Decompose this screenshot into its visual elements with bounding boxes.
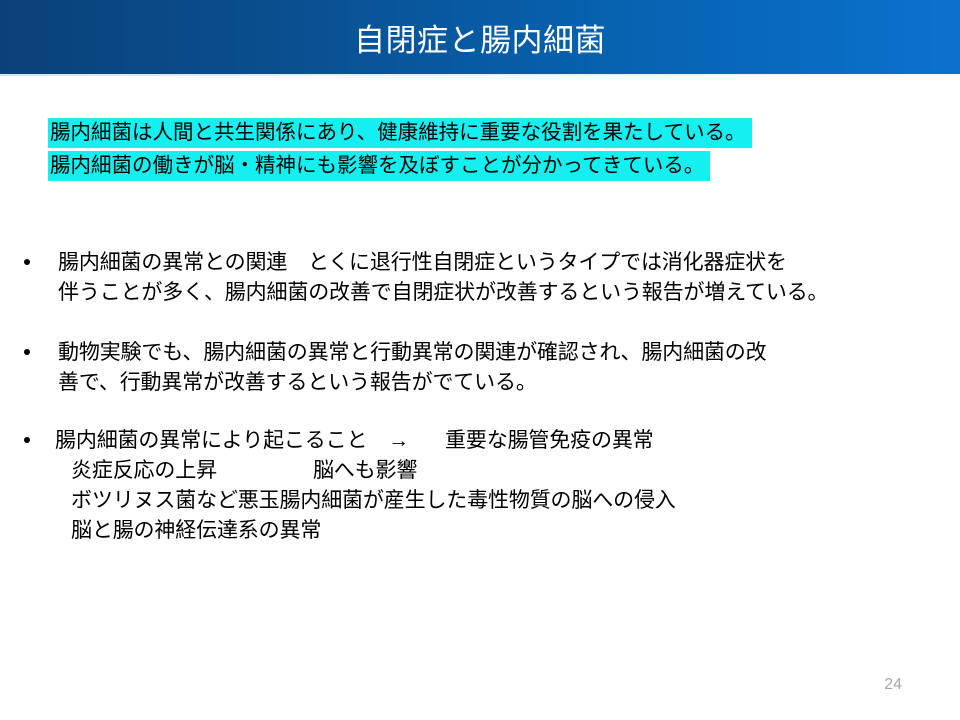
bullet-2-lines: 動物実験でも、腸内細菌の異常と行動異常の関連が確認され、腸内細菌の改 善で、行動… (0, 338, 960, 398)
bullet-3-line-3: ボツリヌス菌など悪玉腸内細菌が産生した毒性物質の脳への侵入 (55, 486, 958, 516)
bullet-3-brain-text: 脳へも影響 (313, 459, 417, 482)
bullet-3-cause-text: 腸内細菌の異常により起こること → (55, 429, 409, 452)
bullet-3-lines: 腸内細菌の異常により起こること →重要な腸管免疫の異常 炎症反応の上昇脳へも影響… (0, 426, 960, 546)
bullet-item-2: 動物実験でも、腸内細菌の異常と行動異常の関連が確認され、腸内細菌の改 善で、行動… (0, 338, 960, 398)
lead-line-1: 腸内細菌は人間と共生関係にあり、健康維持に重要な役割を果たしている。 (48, 118, 928, 148)
bullet-2-line-1: 動物実験でも、腸内細菌の異常と行動異常の関連が確認され、腸内細菌の改 (58, 338, 958, 368)
bullet-3-line-2: 炎症反応の上昇脳へも影響 (55, 456, 958, 486)
page-number: 24 (884, 676, 902, 694)
bullet-dot-icon (24, 259, 30, 265)
bullet-item-1: 腸内細菌の異常との関連 とくに退行性自閉症というタイプでは消化器症状を 伴うこと… (0, 248, 960, 308)
bullet-3-line-4: 脳と腸の神経伝達系の異常 (55, 516, 958, 546)
bullet-1-line-1: 腸内細菌の異常との関連 とくに退行性自閉症というタイプでは消化器症状を (58, 248, 958, 278)
bullet-1-lines: 腸内細菌の異常との関連 とくに退行性自閉症というタイプでは消化器症状を 伴うこと… (0, 248, 960, 308)
bullet-3-inflammation-text: 炎症反応の上昇 (71, 459, 217, 482)
lead-highlight-block: 腸内細菌は人間と共生関係にあり、健康維持に重要な役割を果たしている。 腸内細菌の… (48, 118, 928, 184)
bullet-item-3: 腸内細菌の異常により起こること →重要な腸管免疫の異常 炎症反応の上昇脳へも影響… (0, 426, 960, 546)
bullet-dot-icon (24, 437, 30, 443)
lead-line-1-text: 腸内細菌は人間と共生関係にあり、健康維持に重要な役割を果たしている。 (48, 118, 752, 148)
bullet-dot-icon (24, 349, 30, 355)
body-content: 腸内細菌の異常との関連 とくに退行性自閉症というタイプでは消化器症状を 伴うこと… (0, 248, 960, 572)
bullet-3-effect-text: 重要な腸管免疫の異常 (445, 429, 654, 452)
page-title: 自閉症と腸内細菌 (0, 0, 960, 74)
bullet-3-line-1: 腸内細菌の異常により起こること →重要な腸管免疫の異常 (55, 426, 958, 456)
lead-line-2-text: 腸内細菌の働きが脳・精神にも影響を及ぼすことが分かってきている。 (48, 151, 710, 181)
bullet-2-line-2: 善で、行動異常が改善するという報告がでている。 (58, 368, 958, 398)
bullet-1-line-2: 伴うことが多く、腸内細菌の改善で自閉症状が改善するという報告が増えている。 (58, 278, 958, 308)
slide: 自閉症と腸内細菌 腸内細菌は人間と共生関係にあり、健康維持に重要な役割を果たして… (0, 0, 960, 720)
title-underline (0, 74, 960, 76)
lead-line-2: 腸内細菌の働きが脳・精神にも影響を及ぼすことが分かってきている。 (48, 151, 928, 181)
